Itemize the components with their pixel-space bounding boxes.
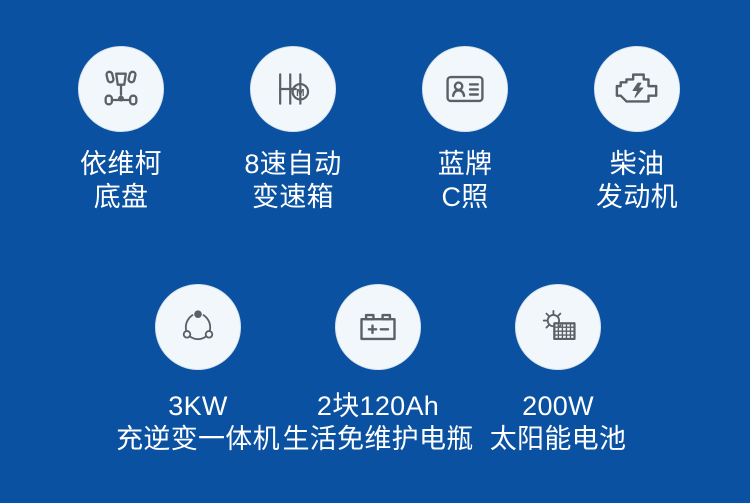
feature-transmission[interactable]: M 8速自动 变速箱	[207, 46, 379, 215]
chassis-icon	[98, 66, 144, 112]
feature-engine[interactable]: 柴油 发动机	[551, 46, 723, 215]
badge-inverter	[155, 284, 241, 370]
car-battery-icon	[356, 305, 400, 349]
caption-line-1: 柴油	[596, 148, 678, 181]
caption-inverter: 3KW 充逆变一体机	[116, 390, 280, 457]
gear-shift-icon: M	[271, 67, 315, 111]
caption-line-2: 太阳能电池	[490, 423, 627, 456]
caption-line-2: 充逆变一体机	[116, 423, 280, 456]
feature-battery[interactable]: 2块120Ah 生活免维护电瓶	[288, 284, 468, 457]
caption-line-1: 8速自动	[244, 148, 341, 181]
caption-line-2: 生活免维护电瓶	[282, 423, 473, 456]
feature-chassis[interactable]: 依维柯 底盘	[35, 46, 207, 215]
badge-chassis	[78, 46, 164, 132]
caption-license: 蓝牌 C照	[438, 148, 493, 215]
badge-battery	[335, 284, 421, 370]
caption-transmission: 8速自动 变速箱	[244, 148, 341, 215]
caption-line-2: 变速箱	[244, 181, 341, 214]
top-feature-row: 依维柯 底盘 M 8	[0, 46, 750, 215]
caption-line-2: C照	[438, 181, 493, 214]
feature-highlight-board: 依维柯 底盘 M 8	[0, 0, 750, 503]
caption-line-2: 发动机	[596, 181, 678, 214]
caption-line-1: 蓝牌	[438, 148, 493, 181]
feature-solar[interactable]: 200W 太阳能电池	[468, 284, 648, 457]
caption-line-1: 依维柯	[80, 148, 162, 181]
caption-line-2: 底盘	[80, 181, 162, 214]
feature-inverter[interactable]: 3KW 充逆变一体机	[108, 284, 288, 457]
svg-text:M: M	[296, 88, 304, 99]
badge-license	[422, 46, 508, 132]
caption-battery: 2块120Ah 生活免维护电瓶	[282, 390, 473, 457]
feature-license[interactable]: 蓝牌 C照	[379, 46, 551, 215]
id-card-icon	[443, 67, 487, 111]
caption-line-1: 3KW	[116, 390, 280, 423]
badge-transmission: M	[250, 46, 336, 132]
solar-panel-icon	[536, 305, 580, 349]
caption-line-1: 200W	[490, 390, 627, 423]
caption-solar: 200W 太阳能电池	[490, 390, 627, 457]
inverter-icon	[176, 305, 220, 349]
badge-engine	[594, 46, 680, 132]
engine-icon	[614, 66, 660, 112]
caption-line-1: 2块120Ah	[282, 390, 473, 423]
badge-solar	[515, 284, 601, 370]
caption-engine: 柴油 发动机	[596, 148, 678, 215]
bottom-feature-row: 3KW 充逆变一体机 2块120Ah 生活免维护电瓶	[0, 284, 750, 457]
caption-chassis: 依维柯 底盘	[80, 148, 162, 215]
